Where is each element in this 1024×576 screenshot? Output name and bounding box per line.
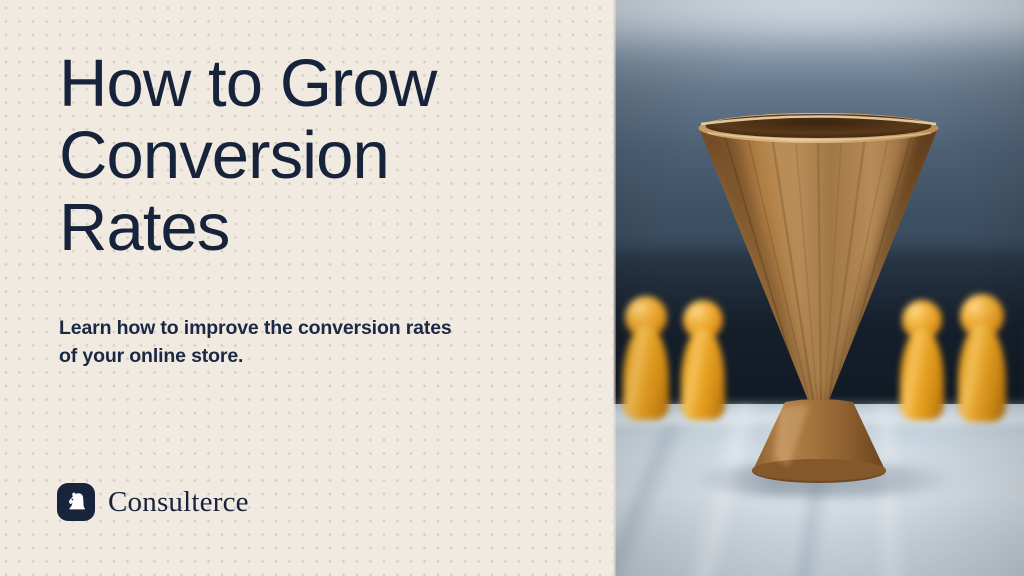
brand-name: Consulterce (108, 488, 249, 517)
chess-knight-icon (57, 483, 95, 521)
funnel-photograph (613, 0, 1024, 576)
page-title: How to Grow Conversion Rates (59, 48, 579, 264)
panel-edge-seam (613, 0, 616, 576)
hero-image-panel (613, 0, 1024, 576)
brand-logo-lockup[interactable]: Consulterce (57, 483, 249, 521)
wooden-funnel (613, 0, 1024, 576)
presentation-slide: How to Grow Conversion Rates Learn how t… (0, 0, 1024, 576)
text-panel: How to Grow Conversion Rates Learn how t… (0, 0, 613, 576)
subtitle-text: Learn how to improve the conversion rate… (59, 314, 579, 370)
